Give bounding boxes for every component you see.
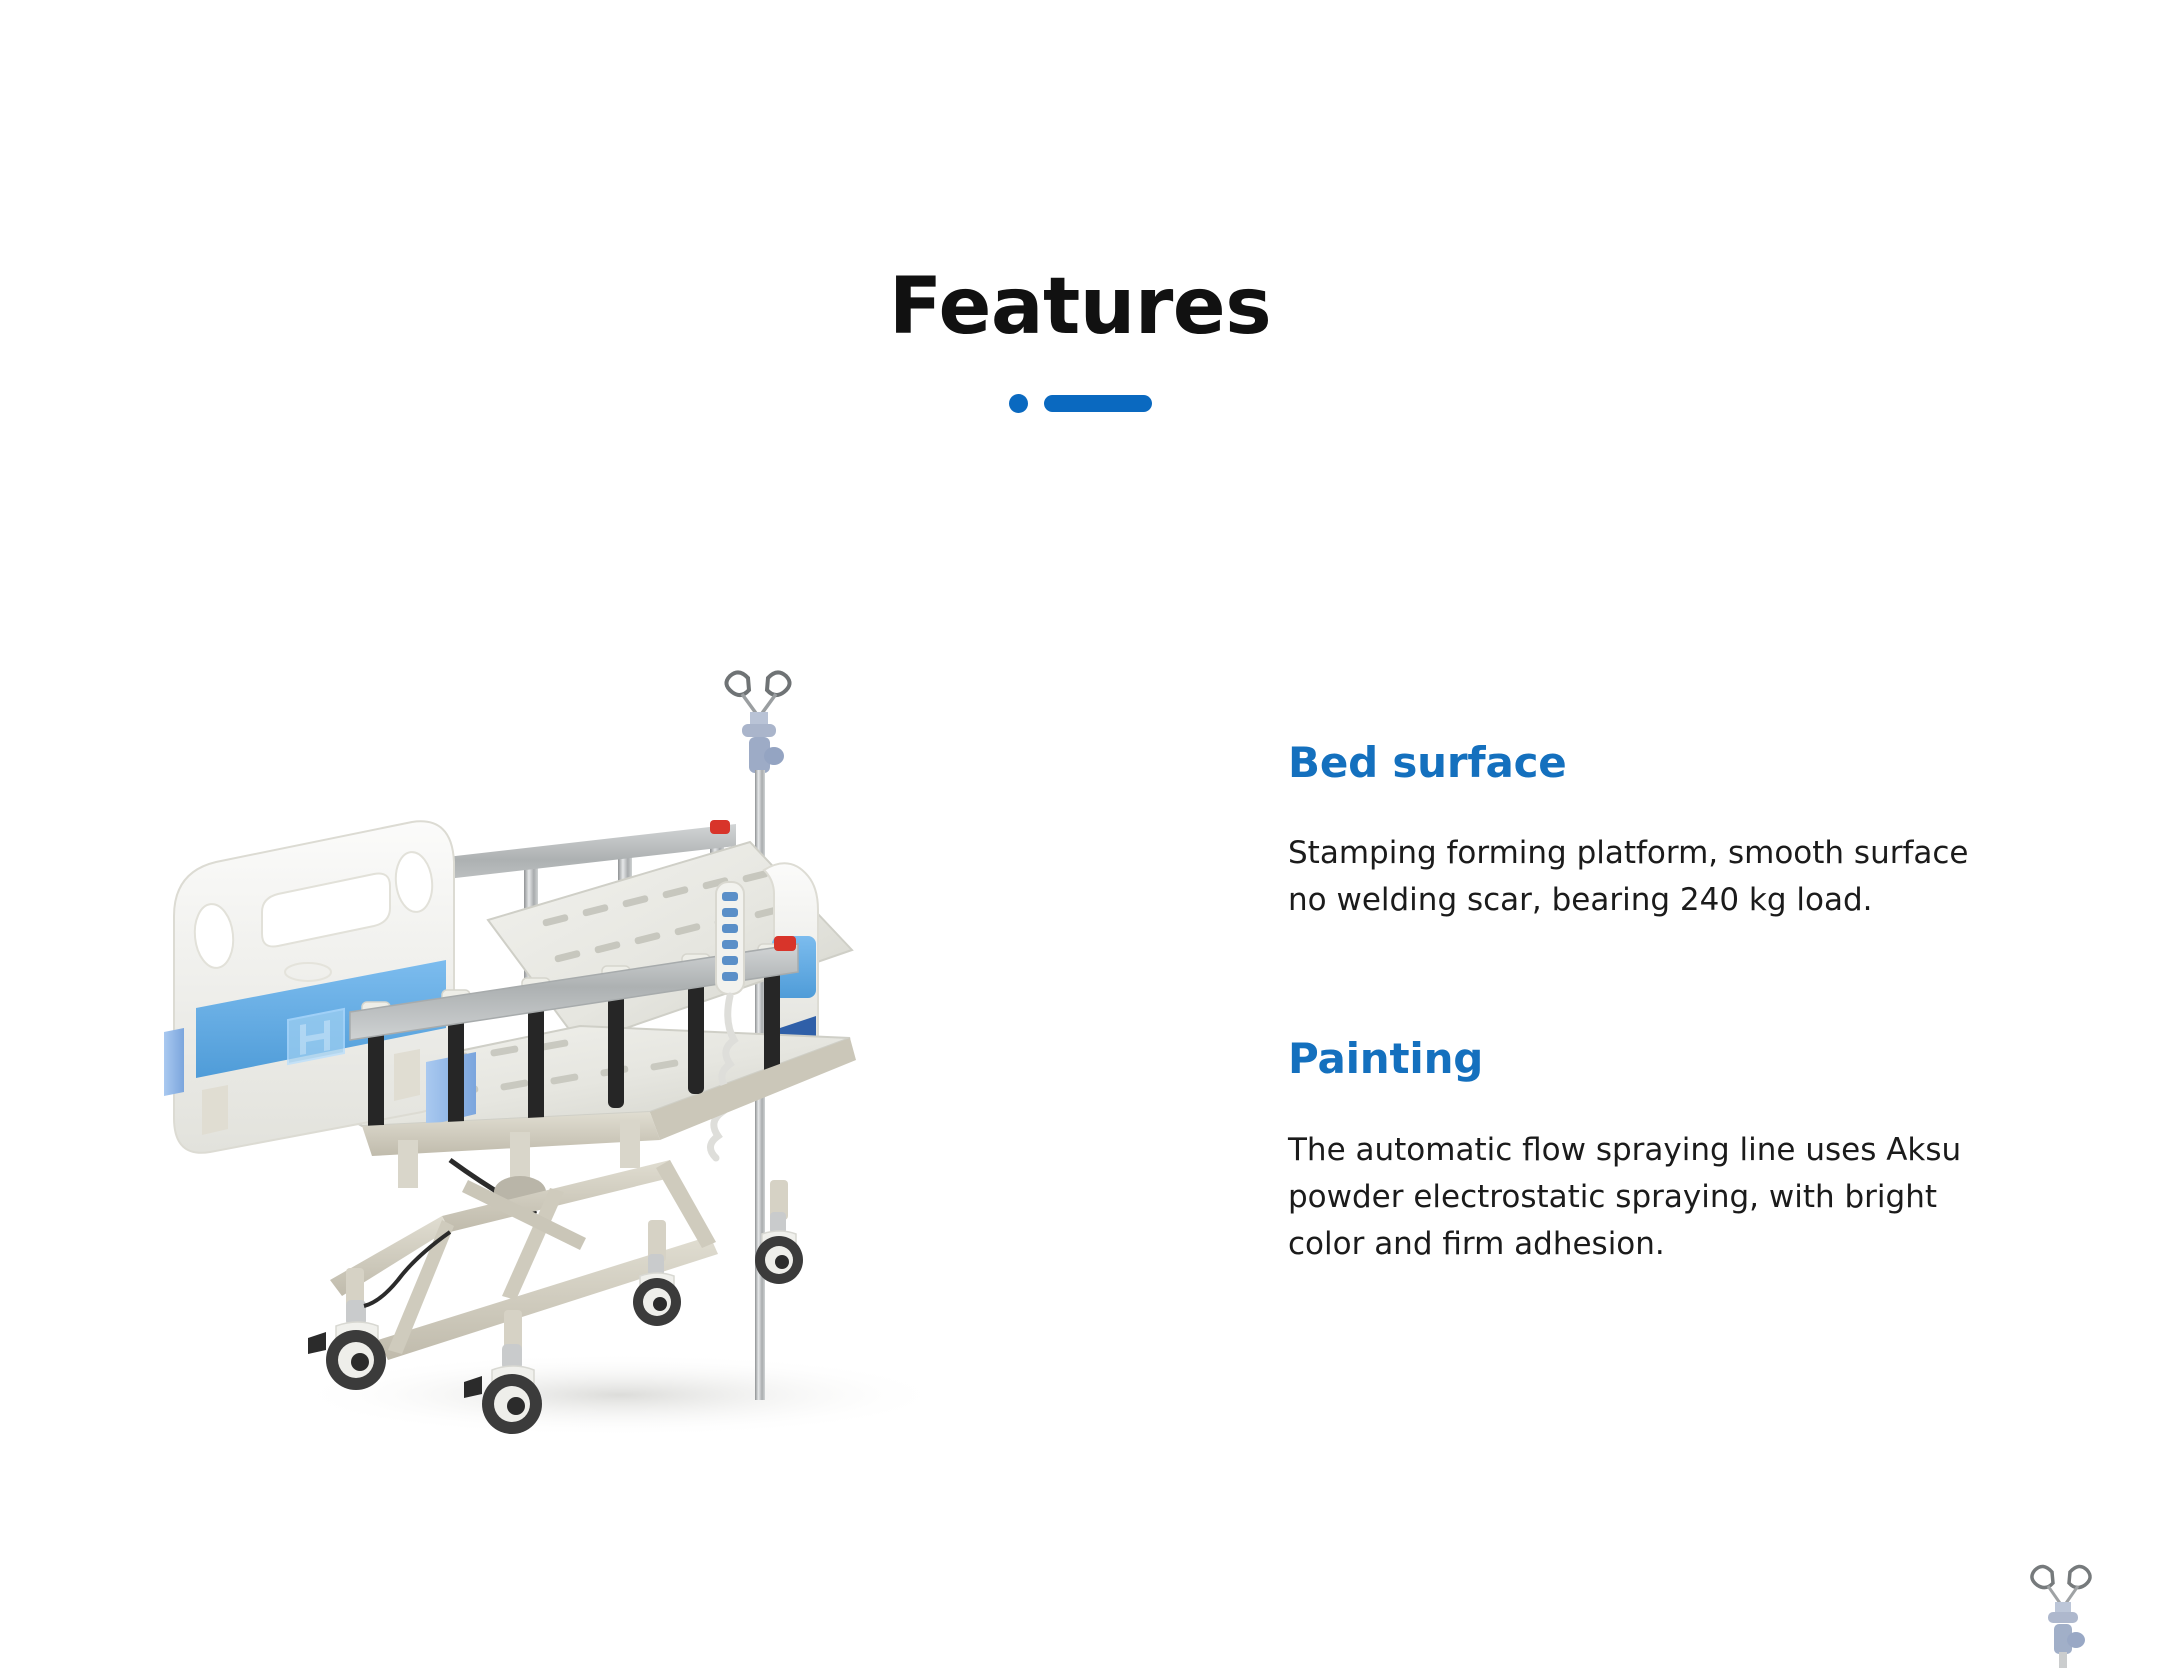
feature-block-painting: Painting The automatic flow spraying lin…: [1288, 1036, 2008, 1268]
feature-heading-bed-surface: Bed surface: [1288, 740, 2008, 786]
page-title: Features: [0, 268, 2160, 346]
headboard: [164, 821, 476, 1152]
accent-bar-icon: [1044, 395, 1152, 412]
base-frame: [330, 1160, 788, 1360]
features-text-column: Bed surface Stamping forming platform, s…: [1288, 740, 2008, 1268]
floor-shadow: [290, 1353, 950, 1437]
feature-block-bed-surface: Bed surface Stamping forming platform, s…: [1288, 740, 2008, 924]
caster-brake-pedal: [308, 1332, 326, 1354]
feature-heading-painting: Painting: [1288, 1036, 2008, 1082]
feature-body-painting: The automatic flow spraying line uses Ak…: [1288, 1127, 1988, 1268]
title-accent-group: [0, 394, 2160, 412]
product-image-hospital-bed: [150, 620, 1160, 1470]
caster: [308, 1300, 386, 1390]
rail-release-button-near: [774, 936, 796, 951]
headboard-bumper-left: [164, 1028, 184, 1096]
feature-body-bed-surface: Stamping forming platform, smooth surfac…: [1288, 830, 1988, 924]
rail-release-button-far: [710, 820, 730, 834]
iv-pole-hook-mark-icon: [2022, 1558, 2102, 1668]
accent-dot-icon: [1009, 394, 1028, 413]
